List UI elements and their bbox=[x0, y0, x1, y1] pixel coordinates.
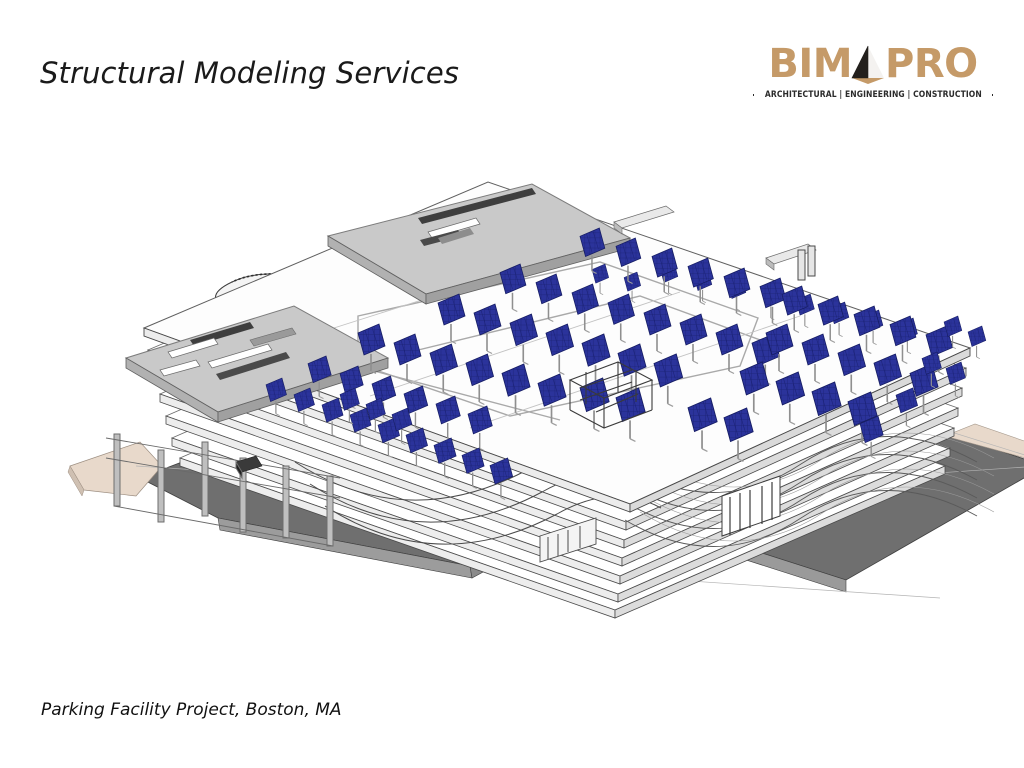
tagline-rule-left bbox=[753, 94, 754, 96]
bimpro-logo: BIM PRO ARCHITECTURAL | ENGINEERING | CO… bbox=[753, 40, 993, 106]
logo-word-pro: PRO bbox=[885, 44, 978, 84]
logo-tagline: ARCHITECTURAL | ENGINEERING | CONSTRUCTI… bbox=[761, 90, 985, 100]
parking-garage-axonometric-model bbox=[40, 166, 1024, 686]
logo-tagline-row: ARCHITECTURAL | ENGINEERING | CONSTRUCTI… bbox=[753, 88, 993, 102]
tagline-rule-right bbox=[992, 94, 993, 96]
project-caption: Parking Facility Project, Boston, MA bbox=[41, 700, 342, 720]
logo-wordmark: BIM PRO bbox=[753, 40, 993, 84]
logo-word-bim: BIM bbox=[768, 44, 852, 84]
page-title: Structural Modeling Services bbox=[40, 56, 459, 90]
pyramid-icon bbox=[850, 44, 886, 84]
